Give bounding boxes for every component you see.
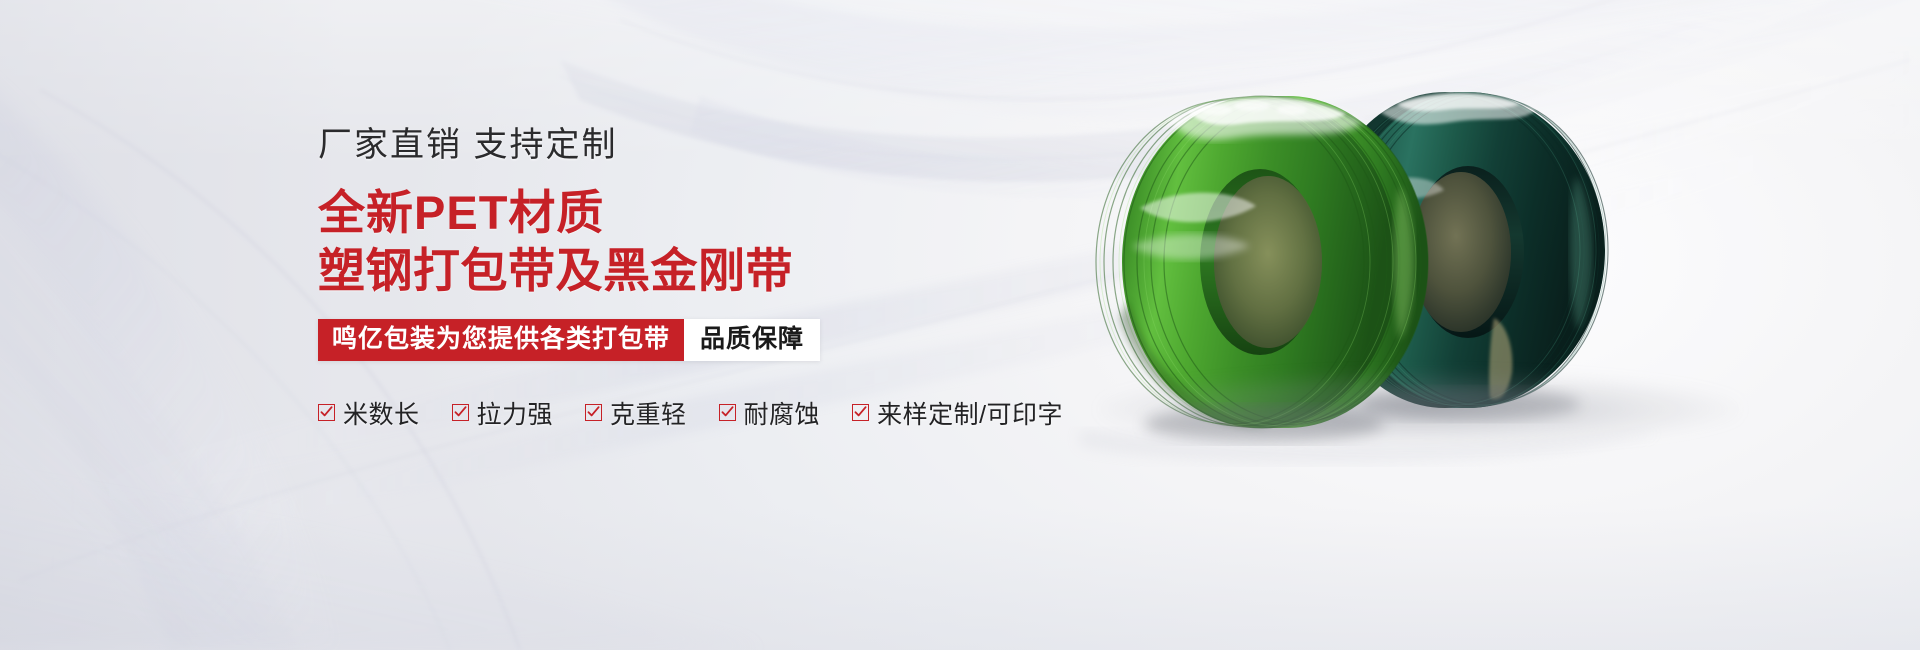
- headline-line-2: 塑钢打包带及黑金刚带: [318, 242, 1038, 300]
- checkbox-checked-icon: [852, 404, 869, 421]
- feature-label: 拉力强: [477, 395, 554, 431]
- hero-banner: 厂家直销 支持定制 全新PET材质 塑钢打包带及黑金刚带 鸣亿包装为您提供各类打…: [0, 0, 1920, 650]
- feature-item: 米数长: [318, 395, 420, 431]
- feature-list: 米数长 拉力强 克重轻: [318, 395, 1038, 431]
- banner-tag-row: 鸣亿包装为您提供各类打包带 品质保障: [318, 319, 820, 361]
- feature-item: 拉力强: [452, 395, 554, 431]
- feature-label: 克重轻: [610, 395, 687, 431]
- banner-headline: 全新PET材质 塑钢打包带及黑金刚带: [318, 184, 1038, 301]
- banner-eyebrow: 厂家直销 支持定制: [318, 128, 1038, 162]
- checkbox-checked-icon: [585, 404, 602, 421]
- banner-content: 厂家直销 支持定制 全新PET材质 塑钢打包带及黑金刚带 鸣亿包装为您提供各类打…: [318, 128, 1038, 431]
- checkbox-checked-icon: [452, 404, 469, 421]
- tagline-red: 鸣亿包装为您提供各类打包带: [318, 319, 684, 361]
- feature-label: 来样定制/可印字: [877, 395, 1063, 431]
- headline-line-1: 全新PET材质: [318, 184, 1038, 242]
- feature-label: 米数长: [343, 395, 420, 431]
- feature-item: 来样定制/可印字: [852, 395, 1063, 431]
- tagline-quality-badge: 品质保障: [684, 319, 820, 361]
- feature-label: 耐腐蚀: [744, 395, 821, 431]
- feature-item: 克重轻: [585, 395, 687, 431]
- checkbox-checked-icon: [719, 404, 736, 421]
- product-shadow: [1100, 372, 1740, 446]
- feature-item: 耐腐蚀: [719, 395, 821, 431]
- checkbox-checked-icon: [318, 404, 335, 421]
- product-photo: [1020, 0, 1920, 650]
